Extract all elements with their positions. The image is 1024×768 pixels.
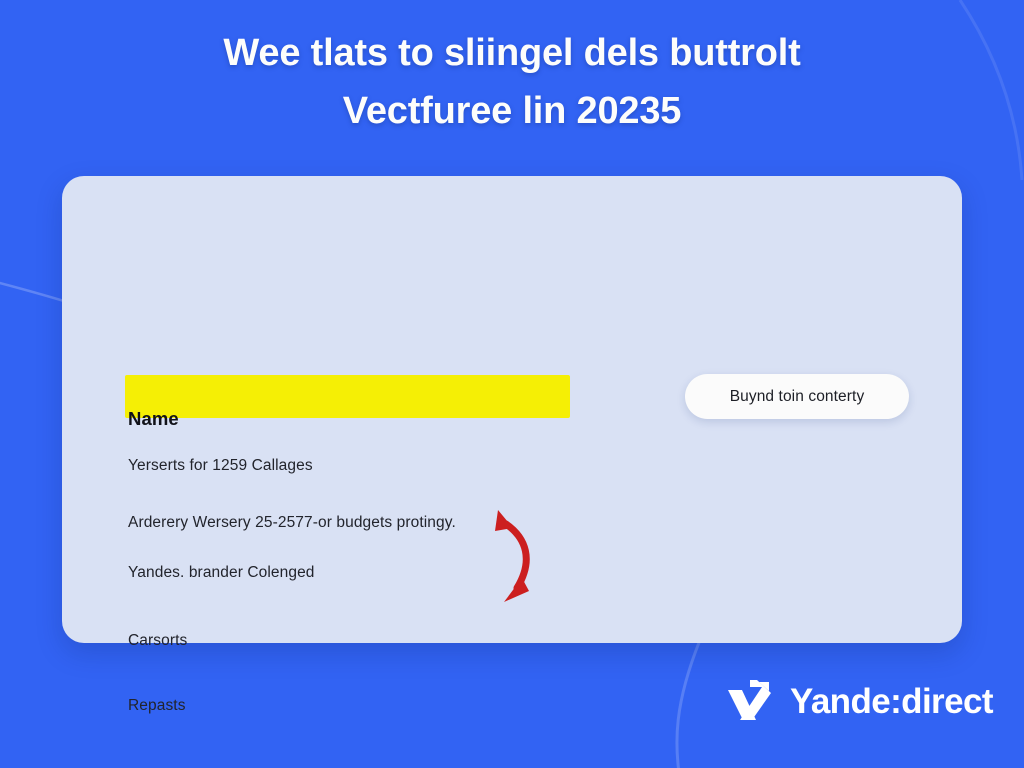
curved-double-arrow-icon [470,498,560,613]
row-highlight-band [125,375,570,418]
brand-logo: Yande:direct [726,676,993,726]
list-item[interactable]: Carsorts [128,632,187,650]
cta-button[interactable]: Buynd toin conterty [685,374,909,419]
brand-logo-text: Yande:direct [790,684,993,719]
list-item[interactable]: Repasts [128,697,186,715]
content-card: Name Yerserts for 1259 Callages Arderery… [62,176,962,643]
column-header-name: Name [128,408,179,430]
list-item[interactable]: Yerserts for 1259 Callages [128,457,313,475]
headline-line-2: Vectfuree lin 20235 [0,82,1024,140]
promo-slide: Wee tlats to sliingel dels buttrolt Vect… [0,0,1024,768]
list-item[interactable]: Arderery Wersery 25-2577-or budgets prot… [128,514,456,532]
cta-button-label: Buynd toin conterty [730,388,865,406]
list-item-highlighted[interactable]: Yandes. brander Colenged [128,564,315,582]
yandex-y-icon [726,676,776,726]
headline-line-1: Wee tlats to sliingel dels buttrolt [223,32,800,74]
page-title: Wee tlats to sliingel dels buttrolt Vect… [0,24,1024,140]
